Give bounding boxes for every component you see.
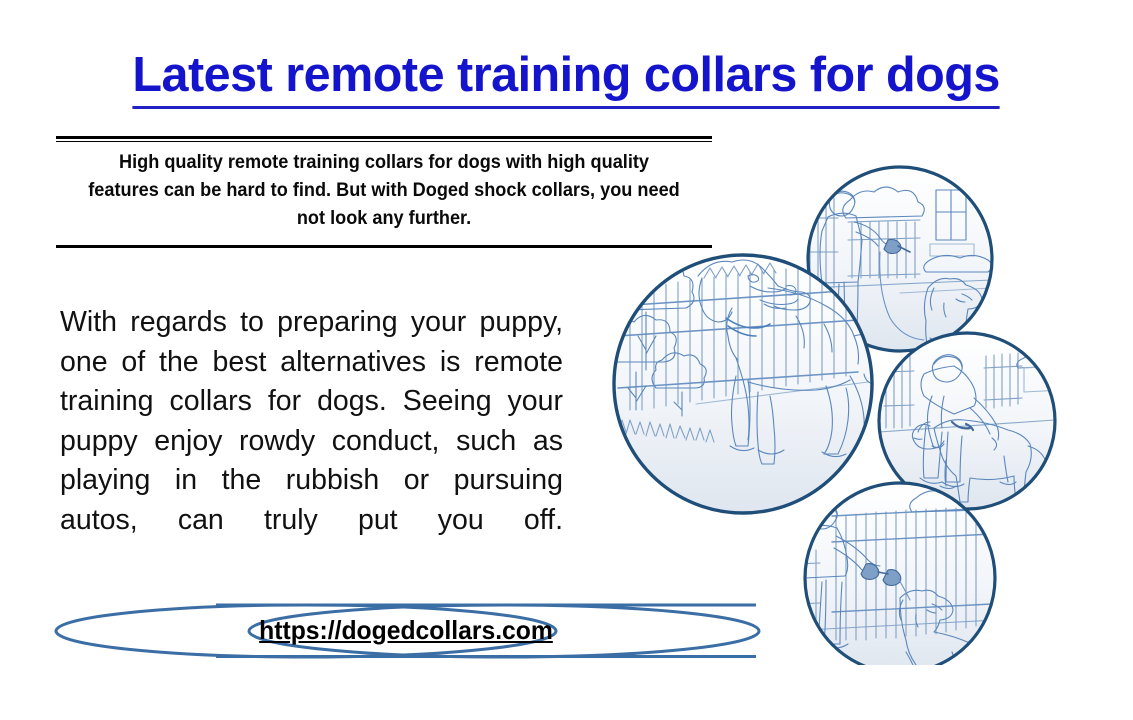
slide-canvas: Latest remote training collars for dogs … — [0, 0, 1133, 720]
illustration-bottom-right — [794, 483, 996, 665]
body-paragraph: With regards to preparing your puppy, on… — [60, 303, 563, 580]
illustration-cluster — [600, 160, 1070, 665]
subtitle-text: High quality remote training collars for… — [79, 142, 689, 240]
page-title: Latest remote training collars for dogs — [0, 46, 1133, 109]
page-title-text: Latest remote training collars for dogs — [133, 46, 1001, 109]
